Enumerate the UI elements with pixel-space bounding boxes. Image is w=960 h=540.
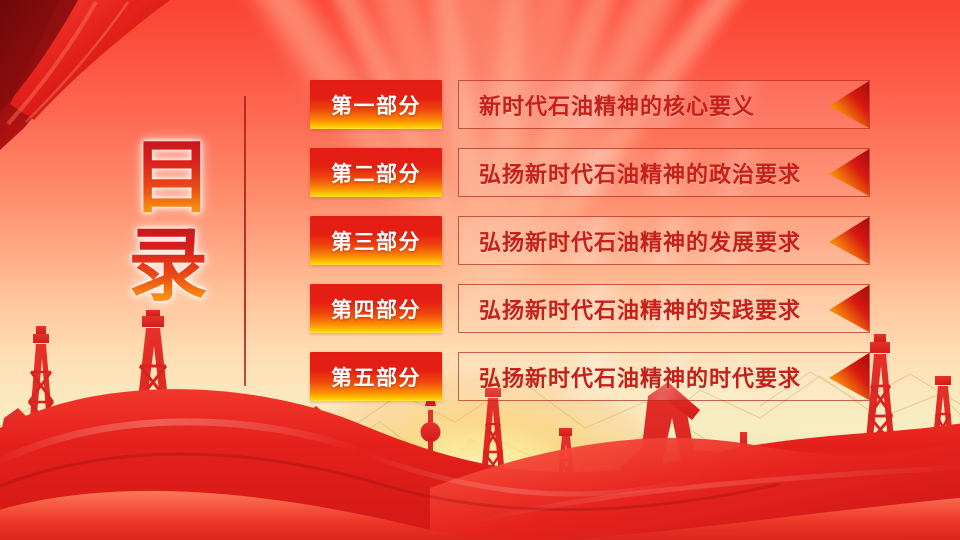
section-title-bar[interactable]: 新时代石油精神的核心要义 [458,80,870,129]
section-title-bar[interactable]: 弘扬新时代石油精神的发展要求 [458,216,870,265]
section-number-badge[interactable]: 第一部分 [310,80,442,129]
chevron-left-icon [827,285,869,332]
chevron-left-icon [827,81,869,128]
agenda-item[interactable]: 第一部分 新时代石油精神的核心要义 [310,80,870,129]
section-number-label: 第四部分 [331,294,421,324]
section-number-badge[interactable]: 第四部分 [310,284,442,333]
section-title-bar[interactable]: 弘扬新时代石油精神的实践要求 [458,284,870,333]
section-title-label: 弘扬新时代石油精神的时代要求 [479,361,801,393]
section-number-badge[interactable]: 第二部分 [310,148,442,197]
page-title-char-2: 录 [128,226,208,306]
agenda-slide: 目 录 第一部分 新时代石油精神的核心要义 [0,0,960,540]
section-title-bar[interactable]: 弘扬新时代石油精神的时代要求 [458,352,870,401]
vertical-divider [244,96,246,386]
page-title-char-1: 目 [132,138,212,218]
section-number-label: 第五部分 [331,362,421,392]
agenda-list: 第一部分 新时代石油精神的核心要义 第二部分 [310,80,870,401]
section-title-label: 弘扬新时代石油精神的政治要求 [479,157,801,189]
red-silk-ribbon [0,0,330,150]
section-number-label: 第二部分 [331,158,421,188]
section-number-label: 第三部分 [331,226,421,256]
agenda-item[interactable]: 第四部分 弘扬新时代石油精神的实践要求 [310,284,870,333]
section-number-badge[interactable]: 第五部分 [310,352,442,401]
section-title-bar[interactable]: 弘扬新时代石油精神的政治要求 [458,148,870,197]
section-title-label: 弘扬新时代石油精神的发展要求 [479,225,801,257]
chevron-left-icon [827,353,869,400]
section-title-label: 新时代石油精神的核心要义 [479,89,755,121]
page-title: 目 录 [118,138,238,334]
section-title-label: 弘扬新时代石油精神的实践要求 [479,293,801,325]
section-number-label: 第一部分 [331,90,421,120]
chevron-left-icon [827,217,869,264]
section-number-badge[interactable]: 第三部分 [310,216,442,265]
agenda-item[interactable]: 第五部分 弘扬新时代石油精神的时代要求 [310,352,870,401]
agenda-item[interactable]: 第二部分 弘扬新时代石油精神的政治要求 [310,148,870,197]
chevron-left-icon [827,149,869,196]
agenda-item[interactable]: 第三部分 弘扬新时代石油精神的发展要求 [310,216,870,265]
